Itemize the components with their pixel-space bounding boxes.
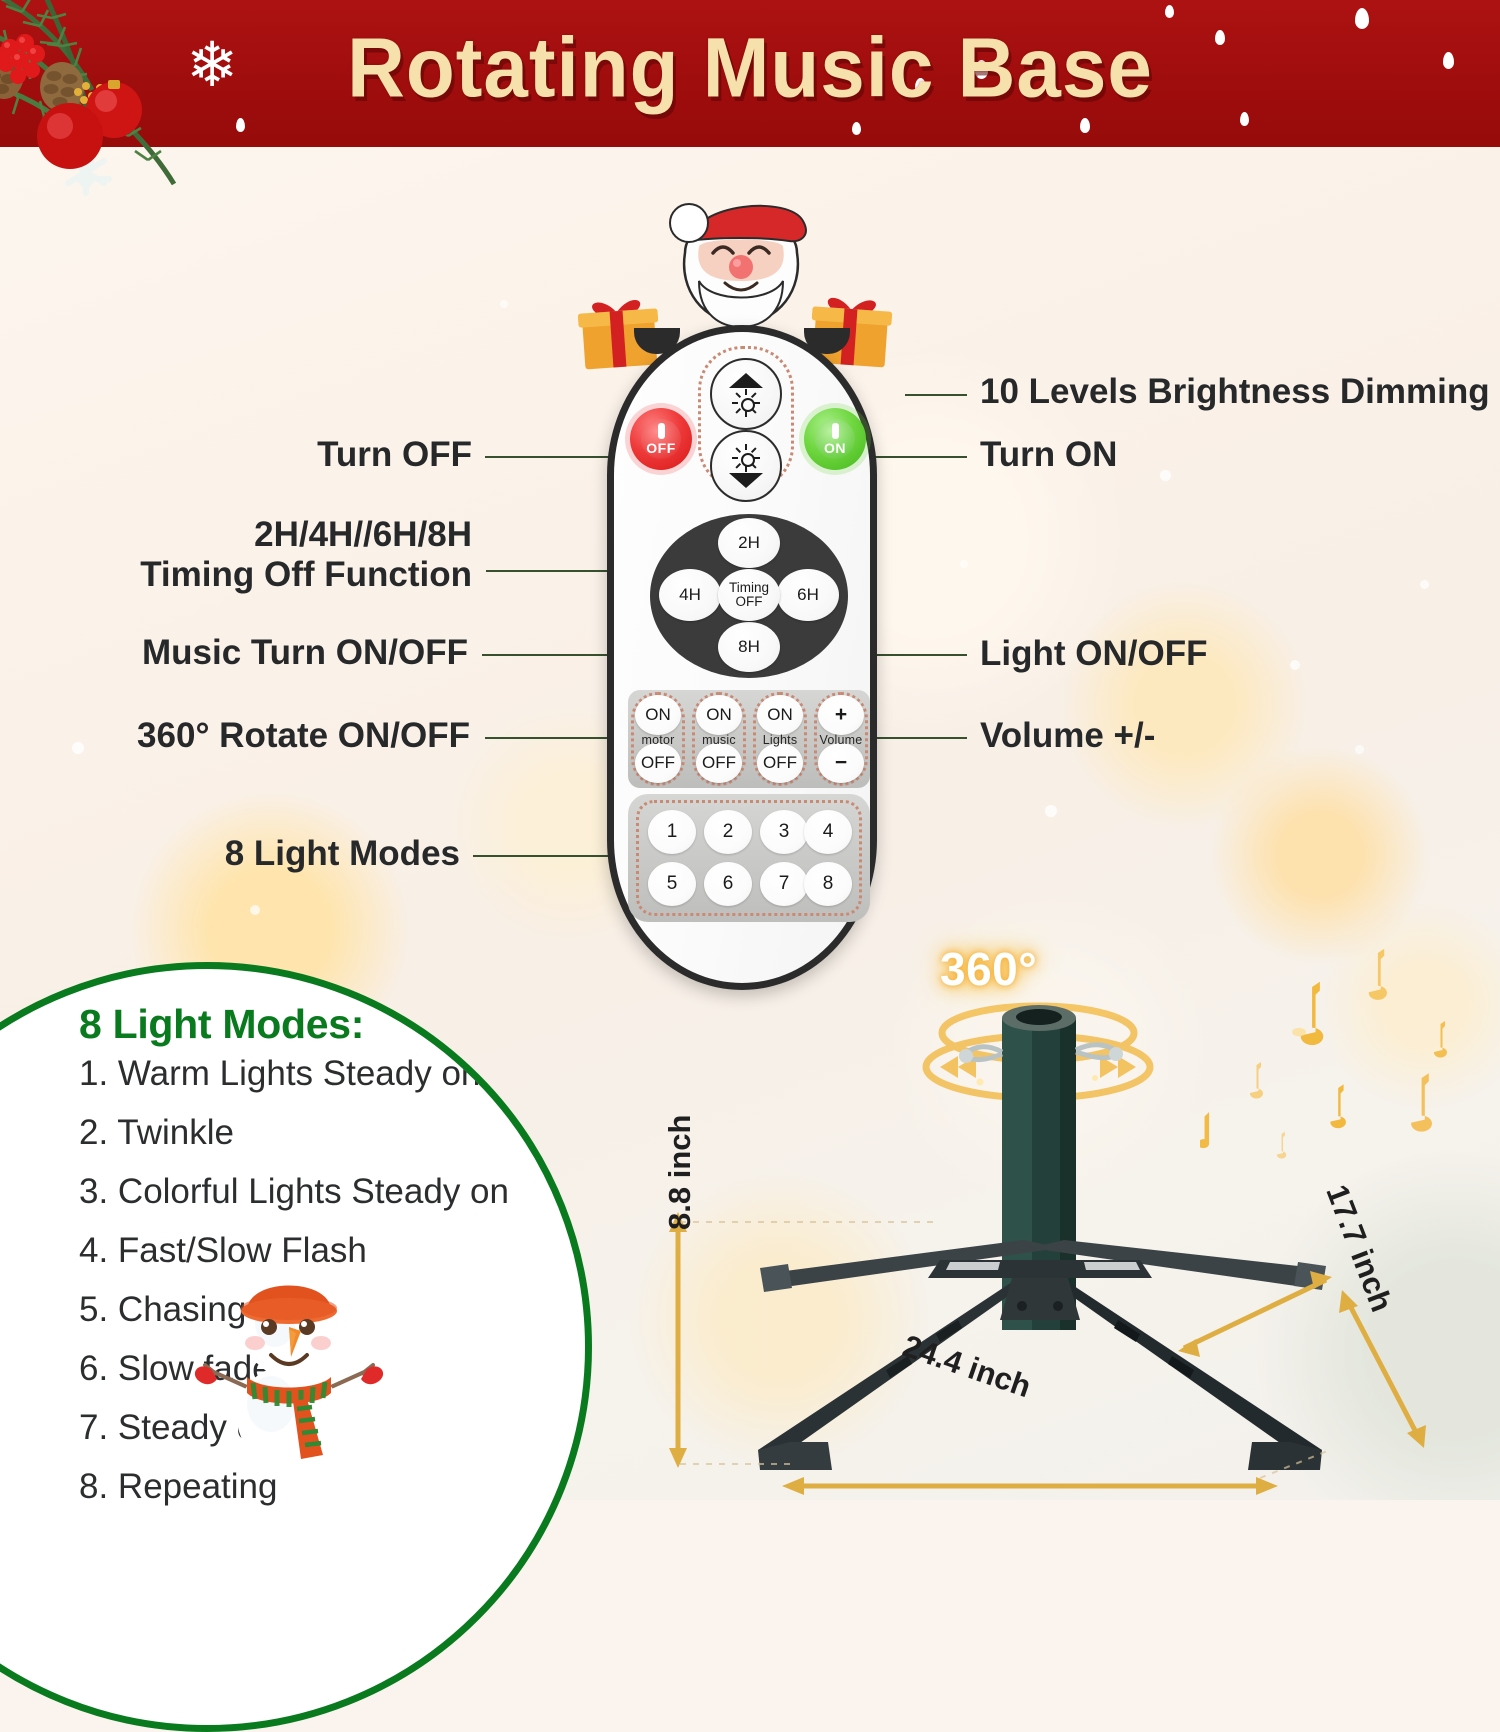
- product-stand-diagram: 360°: [640, 930, 1500, 1500]
- callout-turn-off: Turn OFF: [0, 435, 472, 475]
- sparkle: [1160, 470, 1171, 481]
- power-on-label: ON: [824, 440, 846, 456]
- music-note-icon: [1200, 1106, 1234, 1152]
- power-bar-icon: [658, 423, 665, 439]
- callout-modes: 8 Light Modes: [0, 834, 460, 874]
- light-mode-7-button[interactable]: 7: [760, 862, 808, 906]
- timing-disc: 2H 4H 6H 8H Timing OFF: [650, 514, 848, 678]
- sparkle: [960, 560, 968, 568]
- callout-music: Music Turn ON/OFF: [0, 633, 468, 673]
- timer-2h-button[interactable]: 2H: [718, 518, 780, 568]
- snow-dot: [852, 122, 861, 135]
- callout-timing-line2: Timing Off Function: [0, 555, 472, 595]
- motor-on-button[interactable]: ON: [635, 695, 681, 735]
- callout-rotate: 360° Rotate ON/OFF: [0, 716, 470, 756]
- light-mode-5-button[interactable]: 5: [648, 862, 696, 906]
- music-note-icon: [1268, 1130, 1290, 1160]
- timer-6h-button[interactable]: 6H: [777, 569, 839, 621]
- music-off-button[interactable]: OFF: [696, 743, 742, 783]
- motor-column-label: motor: [627, 733, 689, 747]
- chevron-up-icon: [729, 373, 763, 388]
- sparkle: [1355, 745, 1364, 754]
- power-off-label: OFF: [646, 440, 676, 456]
- power-off-icon: OFF: [641, 419, 681, 459]
- light-mode-2-button[interactable]: 2: [704, 810, 752, 854]
- remote-control: OFF ON 2H 4H 6H 8H Timing OFF: [575, 185, 905, 1015]
- power-bar-icon: [832, 423, 839, 439]
- timer-8h-button[interactable]: 8H: [718, 622, 780, 672]
- volume-up-button[interactable]: +: [818, 695, 864, 735]
- onoff-button-band: ON OFF motor ON OFF music ON OFF Lights …: [628, 690, 870, 788]
- chevron-down-icon: [729, 473, 763, 488]
- sparkle: [500, 300, 508, 308]
- brightness-up-button[interactable]: [710, 358, 782, 430]
- music-column-label: music: [688, 733, 750, 747]
- snowman-icon: [189, 1259, 389, 1469]
- music-note-icon: [1238, 1060, 1268, 1100]
- list-item: 2. Twinkle: [79, 1115, 549, 1150]
- callout-volume: Volume +/-: [980, 716, 1155, 756]
- snow-dot: [236, 118, 245, 132]
- timing-off-line1: Timing: [729, 581, 769, 595]
- timing-off-button[interactable]: Timing OFF: [718, 569, 780, 621]
- christmas-garland-decoration: [0, 0, 197, 223]
- light-modes-pad: 1 2 3 4 5 6 7 8: [628, 794, 870, 922]
- light-mode-6-button[interactable]: 6: [704, 862, 752, 906]
- lights-on-button[interactable]: ON: [757, 695, 803, 735]
- power-on-icon: ON: [815, 419, 855, 459]
- remote-body: OFF ON 2H 4H 6H 8H Timing OFF: [607, 325, 877, 990]
- motor-off-button[interactable]: OFF: [635, 743, 681, 783]
- timing-off-line2: OFF: [736, 595, 763, 609]
- sparkle: [1045, 805, 1057, 817]
- header-banner: ❄ Rotating Music Base: [0, 0, 1500, 147]
- callout-turn-on: Turn ON: [980, 435, 1117, 475]
- brightness-down-button[interactable]: [710, 430, 782, 502]
- sun-icon: [733, 390, 759, 416]
- list-item: 8. Repeating: [79, 1469, 549, 1504]
- light-modes-panel: 8 Light Modes: 1. Warm Lights Steady on …: [0, 962, 592, 1732]
- music-note-icon: [1392, 1070, 1440, 1134]
- leader-line-dimming: [905, 394, 967, 396]
- volume-down-button[interactable]: −: [818, 743, 864, 783]
- callout-dimming: 10 Levels Brightness Dimming: [980, 372, 1490, 412]
- music-on-button[interactable]: ON: [696, 695, 742, 735]
- list-item: 3. Colorful Lights Steady on: [79, 1174, 549, 1209]
- dimension-height-label: 8.8 inch: [662, 1115, 698, 1230]
- callout-light-onoff: Light ON/OFF: [980, 634, 1207, 674]
- light-mode-4-button[interactable]: 4: [804, 810, 852, 854]
- sparkle: [250, 905, 260, 915]
- list-item: 1. Warm Lights Steady on: [79, 1056, 549, 1091]
- timer-4h-button[interactable]: 4H: [659, 569, 721, 621]
- snow-dot: [1080, 118, 1090, 133]
- light-mode-3-button[interactable]: 3: [760, 810, 808, 854]
- power-off-button[interactable]: OFF: [630, 408, 692, 470]
- lights-off-button[interactable]: OFF: [757, 743, 803, 783]
- music-note-icon: [1280, 978, 1332, 1048]
- santa-icon: [651, 185, 831, 345]
- page-title: Rotating Music Base: [0, 19, 1500, 117]
- snow-dot: [1165, 5, 1174, 18]
- light-modes-title: 8 Light Modes:: [79, 1001, 549, 1048]
- music-note-icon: [1422, 1018, 1452, 1060]
- callout-timing: 2H/4H//6H/8H Timing Off Function: [0, 515, 472, 596]
- volume-column-label: Volume: [810, 733, 872, 747]
- lights-column-label: Lights: [749, 733, 811, 747]
- stand-illustration: [640, 930, 1500, 1500]
- light-mode-1-button[interactable]: 1: [648, 810, 696, 854]
- power-on-button[interactable]: ON: [804, 408, 866, 470]
- sparkle: [1290, 660, 1300, 670]
- music-note-icon: [1352, 946, 1394, 1002]
- music-note-icon: [1316, 1082, 1352, 1130]
- light-mode-8-button[interactable]: 8: [804, 862, 852, 906]
- sun-icon: [733, 445, 759, 471]
- sparkle: [1420, 580, 1429, 589]
- callout-timing-line1: 2H/4H//6H/8H: [0, 515, 472, 555]
